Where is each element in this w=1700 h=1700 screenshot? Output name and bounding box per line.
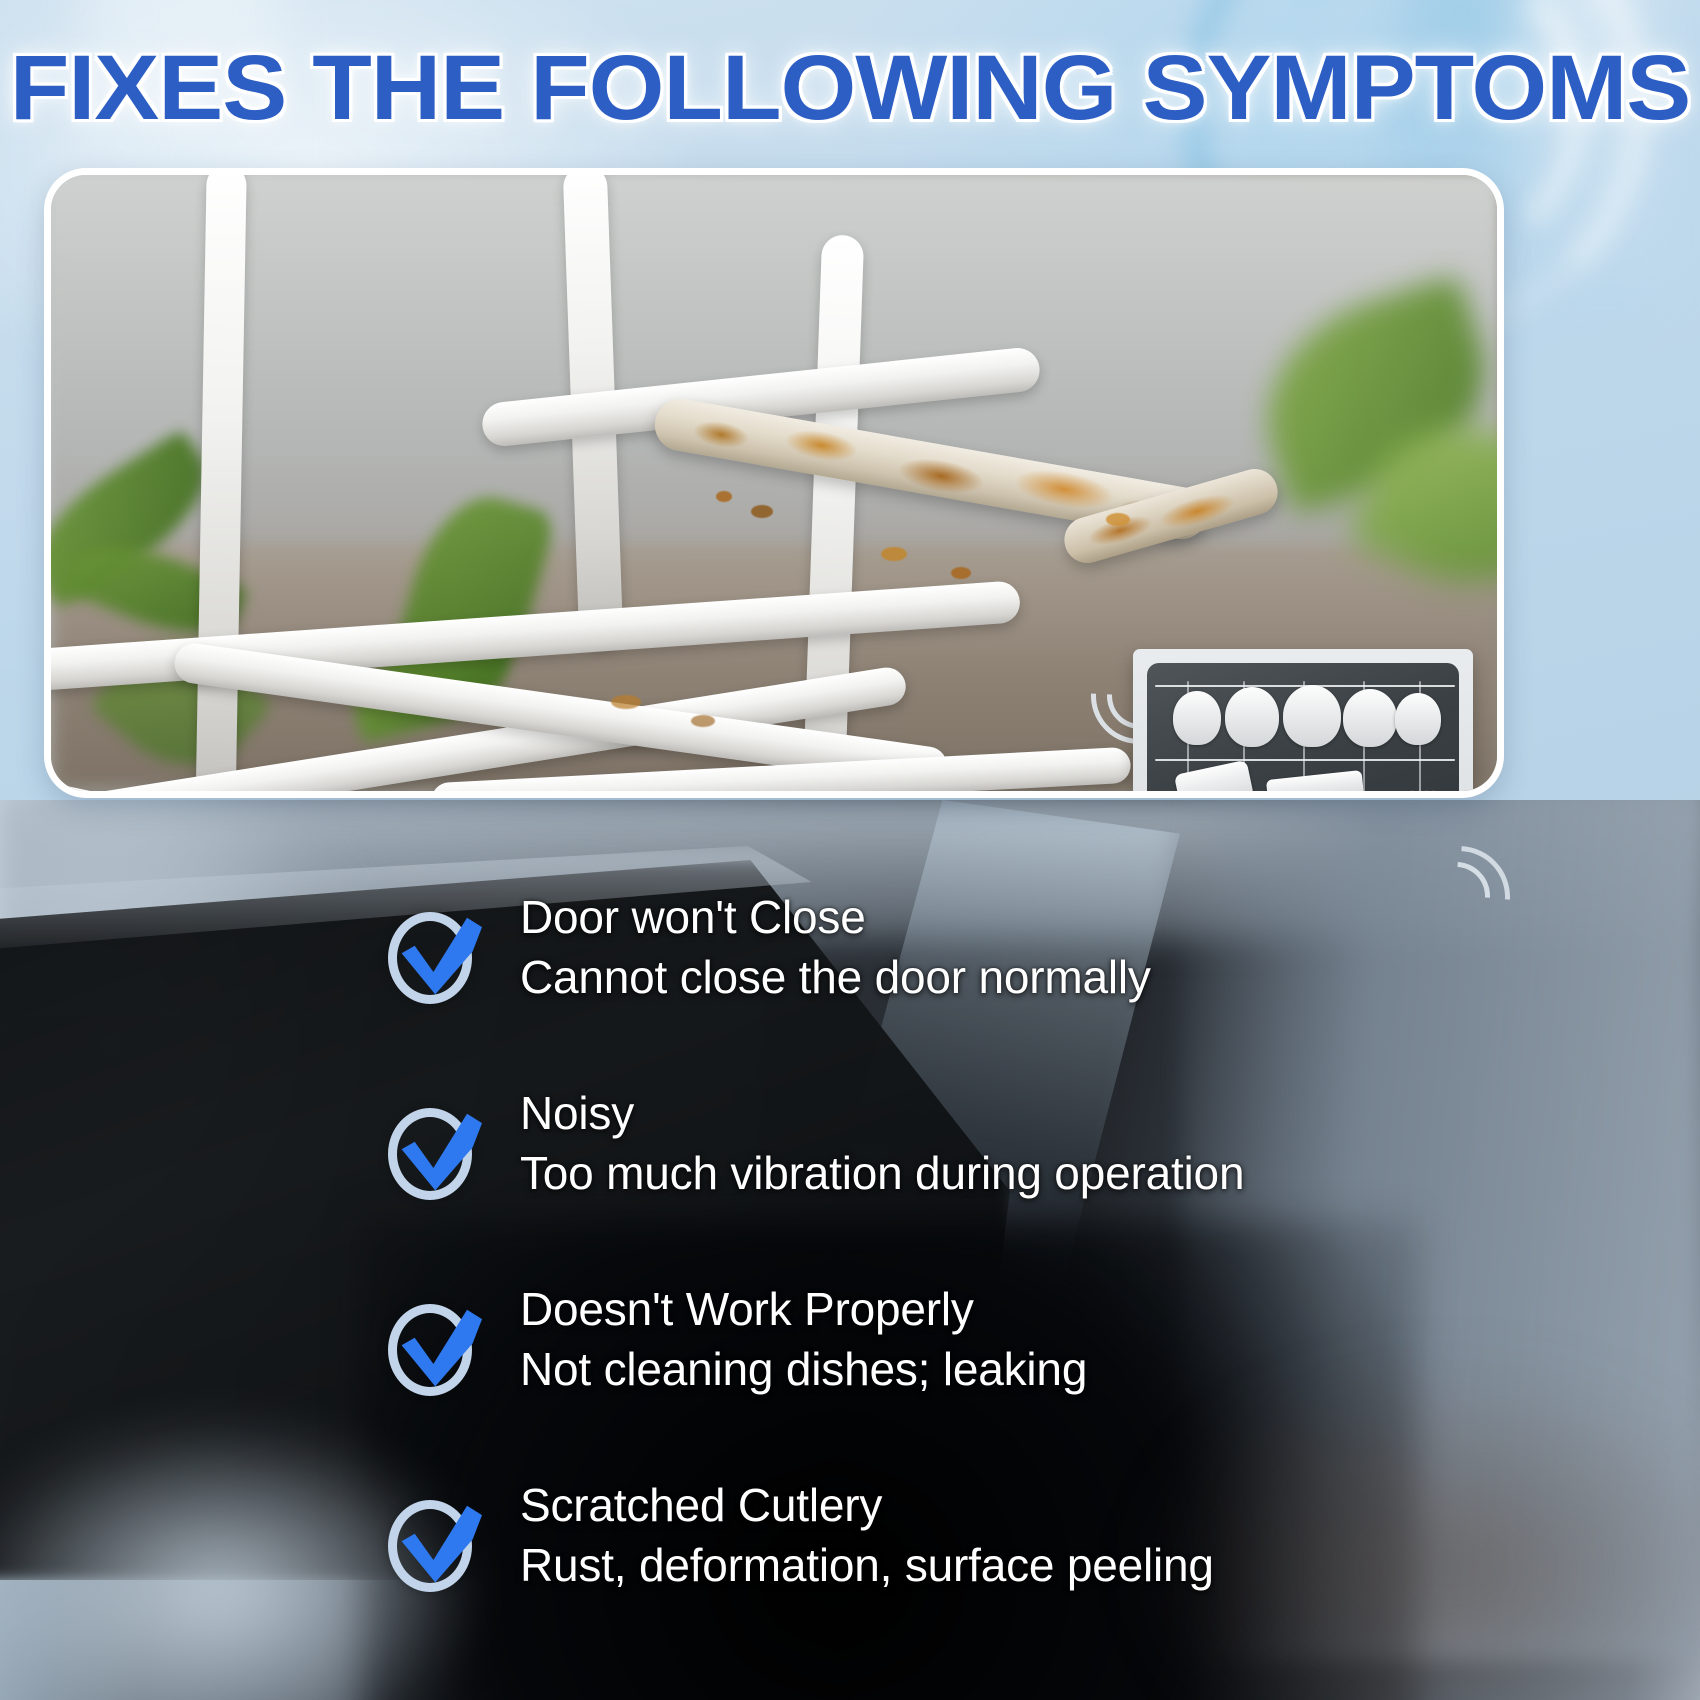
check-mark-icon [392,1110,486,1196]
photo-wall [51,175,1497,557]
rusted-rack-photo-card [44,168,1504,798]
check-circle-icon [382,1496,478,1592]
dishwasher-cavity [1147,663,1459,791]
rust-speck [951,567,971,579]
rusted-dishwasher-rack-photo [51,175,1497,791]
dish [1283,685,1341,747]
symptom-description: Rust, deformation, surface peeling [520,1538,1214,1592]
symptom-description: Not cleaning dishes; leaking [520,1342,1087,1396]
rust-speck [611,695,641,709]
rust-speck [881,547,907,561]
symptom-description: Too much vibration during operation [520,1146,1244,1200]
dish [1343,689,1397,747]
symptom-item: Scratched Cutlery Rust, deformation, sur… [382,1474,1542,1624]
symptom-title: Scratched Cutlery [520,1478,1214,1532]
symptom-text: Door won't Close Cannot close the door n… [520,886,1151,1005]
check-mark-icon [392,1502,486,1588]
symptom-list: Door won't Close Cannot close the door n… [382,886,1542,1624]
page-title: FIXES THE FOLLOWING SYMPTOMS [0,36,1700,141]
check-circle-icon [382,908,478,1004]
rust-speck [1106,513,1130,526]
rack-grid-line [1155,759,1455,761]
dish [1395,693,1441,745]
symptom-text: Doesn't Work Properly Not cleaning dishe… [520,1278,1087,1397]
dish [1266,770,1364,791]
dish [1173,691,1221,745]
dish [1225,687,1279,747]
dishwasher-inset [1133,649,1473,791]
symptom-text: Scratched Cutlery Rust, deformation, sur… [520,1474,1214,1593]
rust-speck [716,491,732,502]
symptom-title: Doesn't Work Properly [520,1282,1087,1336]
rust-speck [751,505,773,518]
infographic-canvas: FIXES THE FOLLOWING SYMPTOMS [0,0,1700,1700]
symptom-title: Door won't Close [520,890,1151,944]
dish [1174,760,1254,791]
symptom-item: Door won't Close Cannot close the door n… [382,886,1542,1036]
symptom-item: Doesn't Work Properly Not cleaning dishe… [382,1278,1542,1428]
symptom-item: Noisy Too much vibration during operatio… [382,1082,1542,1232]
rust-speck [691,715,715,727]
symptom-description: Cannot close the door normally [520,950,1151,1004]
symptom-text: Noisy Too much vibration during operatio… [520,1082,1244,1201]
check-circle-icon [382,1300,478,1396]
symptom-title: Noisy [520,1086,1244,1140]
check-circle-icon [382,1104,478,1200]
check-mark-icon [392,914,486,1000]
check-mark-icon [392,1306,486,1392]
